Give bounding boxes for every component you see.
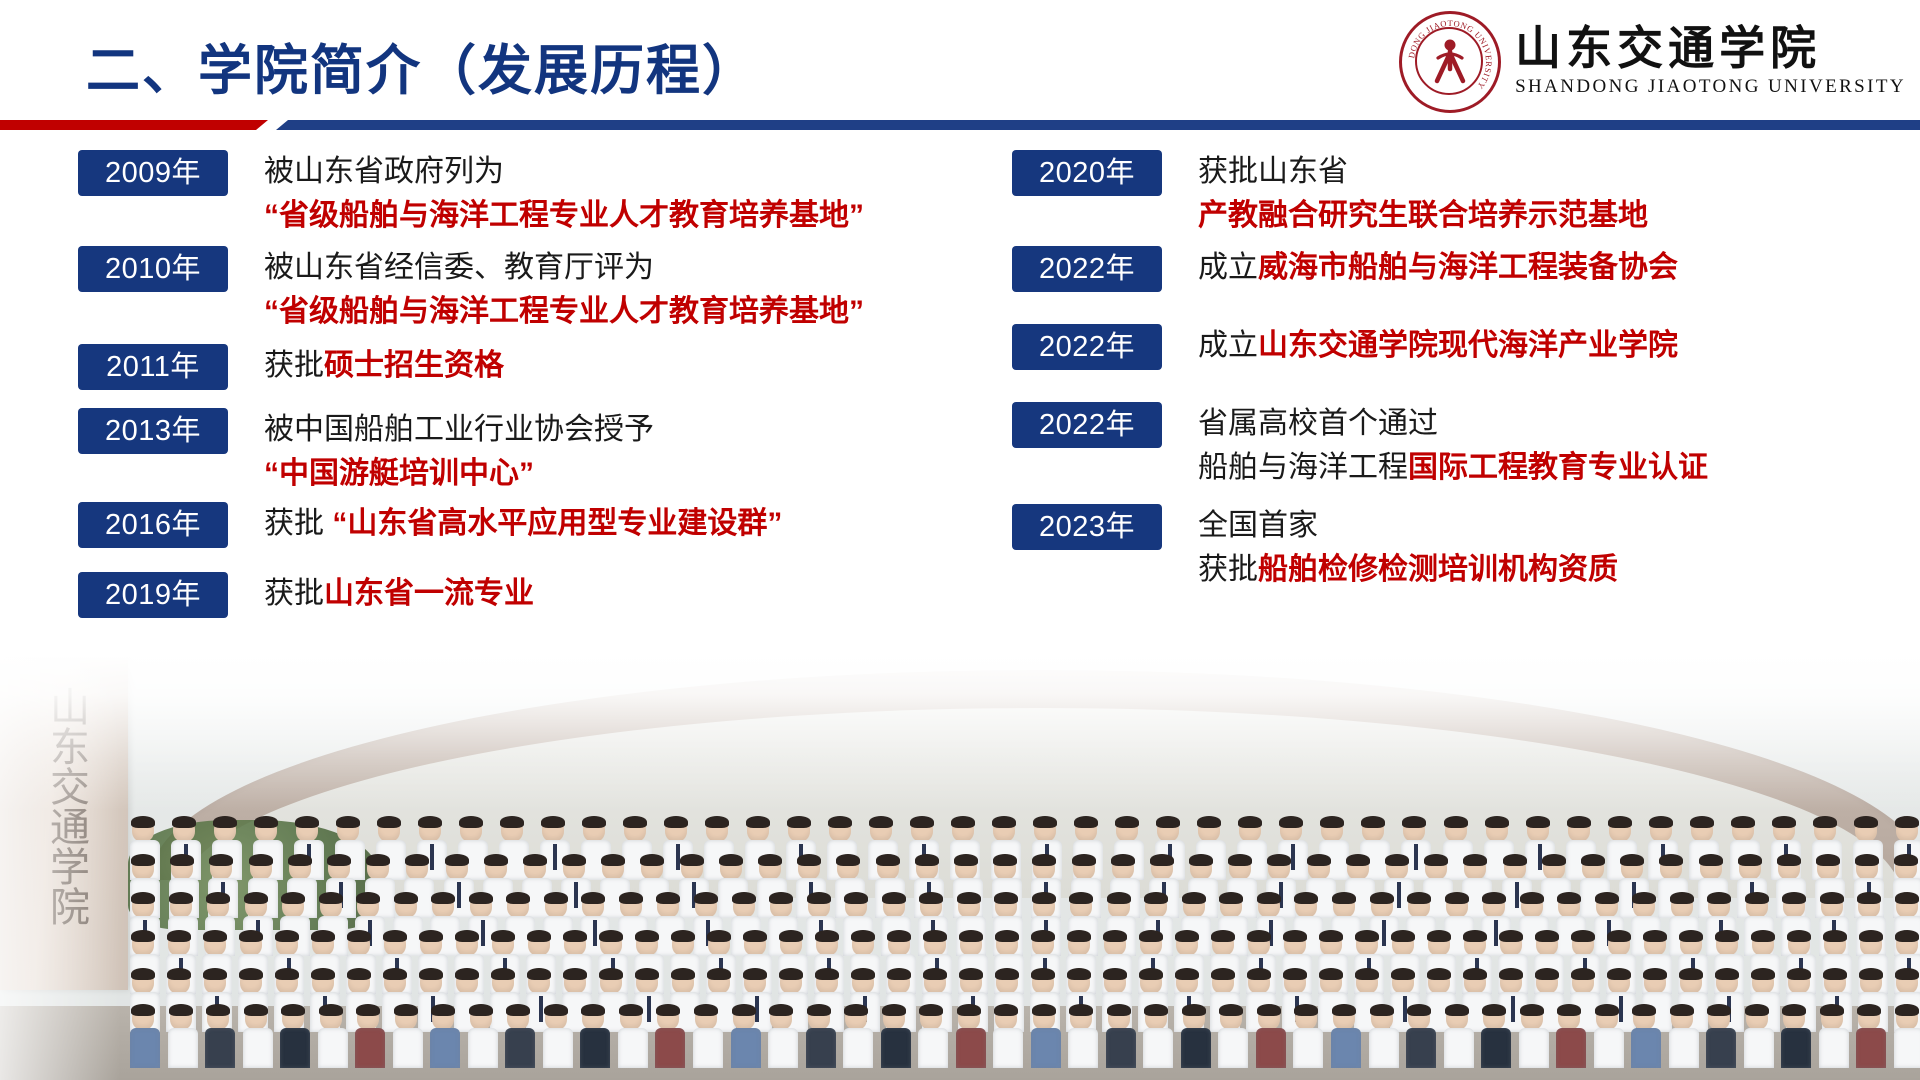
crowd-person (1406, 1006, 1432, 1068)
person-head (883, 1006, 905, 1030)
person-head (888, 932, 910, 956)
entry-plain-text: 获批 (264, 577, 324, 610)
person-head (1075, 818, 1097, 842)
person-head (132, 818, 154, 842)
person-body (1631, 1028, 1661, 1068)
crowd-person (130, 1006, 156, 1068)
entry-plain-text: 被山东省经信委、教育厅评为 (264, 251, 654, 284)
person-head (132, 932, 154, 956)
person-head (911, 818, 933, 842)
person-head (1446, 894, 1468, 918)
timeline-entry: 2022年省属高校首个通过船舶与海洋工程国际工程教育专业认证 (1012, 402, 1708, 490)
entry-highlight-text: “省级船舶与海洋工程专业人才教育培养基地” (264, 295, 864, 328)
university-logo: SHANDONG JIAOTONG UNIVERSITY 山东交通学院 SHAN… (1399, 8, 1906, 116)
person-head (524, 856, 546, 880)
person-head (245, 1006, 267, 1030)
person-head (1671, 894, 1693, 918)
timeline-entry-line: 成立山东交通学院现代海洋产业学院 (1198, 324, 1678, 368)
person-head (681, 856, 703, 880)
person-body (1406, 1028, 1436, 1068)
entry-plain-text: 获批 (264, 507, 332, 540)
timeline-entry-text: 获批山东省一流专业 (264, 572, 534, 616)
person-head (1700, 856, 1722, 880)
person-head (1034, 818, 1056, 842)
person-head (406, 856, 428, 880)
person-head (708, 970, 730, 994)
person-head (296, 818, 318, 842)
person-head (1248, 932, 1270, 956)
person-head (312, 970, 334, 994)
person-head (1464, 970, 1486, 994)
person-head (1739, 856, 1761, 880)
person-body (1481, 1028, 1511, 1068)
entry-highlight-text: “省级船舶与海洋工程专业人才教育培养基地” (264, 199, 864, 232)
timeline-entry-text: 成立山东交通学院现代海洋产业学院 (1198, 324, 1678, 368)
person-head (1284, 970, 1306, 994)
person-head (665, 818, 687, 842)
person-body (205, 1028, 235, 1068)
year-badge: 2016年 (78, 502, 228, 548)
person-head (1752, 970, 1774, 994)
person-head (1176, 970, 1198, 994)
person-body (731, 1028, 761, 1068)
person-head (1783, 894, 1805, 918)
crowd-person (1631, 1006, 1657, 1068)
person-head (1321, 818, 1343, 842)
person-head (816, 932, 838, 956)
person-head (1856, 856, 1878, 880)
person-head (657, 894, 679, 918)
person-head (1425, 856, 1447, 880)
person-body (1706, 1028, 1736, 1068)
person-head (214, 818, 236, 842)
university-seal-icon: SHANDONG JIAOTONG UNIVERSITY (1399, 11, 1501, 113)
year-badge: 2019年 (78, 572, 228, 618)
crowd-person (468, 1006, 494, 1068)
crowd-person (393, 1006, 419, 1068)
crowd-person (543, 1006, 569, 1068)
entry-plain-text: 全国首家 (1198, 509, 1318, 542)
person-head (1855, 818, 1877, 842)
person-head (1229, 856, 1251, 880)
person-head (1446, 1006, 1468, 1030)
person-head (798, 856, 820, 880)
timeline-entry-line: “中国游艇培训中心” (264, 452, 654, 496)
person-head (320, 894, 342, 918)
person-head (1280, 818, 1302, 842)
person-head (1033, 1006, 1055, 1030)
person-head (582, 894, 604, 918)
person-head (960, 932, 982, 956)
person-head (1896, 932, 1918, 956)
person-head (636, 932, 658, 956)
person-head (1543, 856, 1565, 880)
person-head (1650, 818, 1672, 842)
person-head (1183, 1006, 1205, 1030)
person-head (770, 894, 792, 918)
entry-highlight-text: 硕士招生资格 (324, 349, 504, 382)
crowd-person (1106, 1006, 1132, 1068)
person-head (602, 856, 624, 880)
timeline-entry-line: 获批船舶检修检测培训机构资质 (1198, 548, 1618, 592)
person-head (563, 856, 585, 880)
person-head (1151, 856, 1173, 880)
person-head (545, 894, 567, 918)
logo-chinese-name: 山东交通学院 (1515, 25, 1906, 73)
person-head (357, 1006, 379, 1030)
person-head (877, 856, 899, 880)
person-head (384, 970, 406, 994)
person-head (282, 894, 304, 918)
person-head (250, 856, 272, 880)
person-head (1858, 1006, 1880, 1030)
person-head (485, 856, 507, 880)
person-head (1212, 970, 1234, 994)
person-head (1258, 894, 1280, 918)
person-head (770, 1006, 792, 1030)
person-head (720, 856, 742, 880)
person-head (1356, 932, 1378, 956)
entry-plain-text: 被山东省政府列为 (264, 155, 504, 188)
person-body (1781, 1028, 1811, 1068)
person-head (173, 818, 195, 842)
person-head (207, 1006, 229, 1030)
person-head (1504, 856, 1526, 880)
crowd-person (881, 1006, 907, 1068)
timeline-entry-line: 获批山东省一流专业 (264, 572, 534, 616)
crowd-person (618, 1006, 644, 1068)
person-head (994, 856, 1016, 880)
person-head (492, 970, 514, 994)
divider-red-segment (0, 120, 268, 130)
person-head (446, 856, 468, 880)
person-body (243, 1028, 273, 1068)
person-body (693, 1028, 723, 1068)
person-body (806, 1028, 836, 1068)
person-head (1333, 894, 1355, 918)
entry-plain-text: 船舶与海洋工程 (1198, 451, 1408, 484)
person-body (1031, 1028, 1061, 1068)
person-head (695, 1006, 717, 1030)
person-head (170, 1006, 192, 1030)
person-head (245, 894, 267, 918)
crowd-person (768, 1006, 794, 1068)
person-head (600, 932, 622, 956)
person-head (1896, 1006, 1918, 1030)
crowd-row (130, 1006, 1920, 1068)
person-head (1320, 932, 1342, 956)
person-head (170, 894, 192, 918)
crowd-person (1331, 1006, 1357, 1068)
entry-plain-text: 获批 (264, 349, 324, 382)
person-head (845, 894, 867, 918)
timeline-entry-line: 全国首家 (1198, 504, 1618, 548)
person-head (1428, 970, 1450, 994)
person-head (733, 1006, 755, 1030)
person-head (636, 970, 658, 994)
year-badge: 2013年 (78, 408, 228, 454)
person-head (1716, 970, 1738, 994)
crowd-person (1293, 1006, 1319, 1068)
person-head (132, 1006, 154, 1030)
person-head (744, 932, 766, 956)
person-body (1143, 1028, 1173, 1068)
person-head (1895, 856, 1917, 880)
person-head (168, 970, 190, 994)
timeline-entry: 2020年获批山东省产教融合研究生联合培养示范基地 (1012, 150, 1648, 238)
timeline-entry: 2023年全国首家获批船舶检修检测培训机构资质 (1012, 504, 1618, 592)
timeline-entry-line: “省级船舶与海洋工程专业人才教育培养基地” (264, 194, 864, 238)
crowd-person (1594, 1006, 1620, 1068)
timeline-entry-text: 获批山东省产教融合研究生联合培养示范基地 (1198, 150, 1648, 238)
person-head (1500, 932, 1522, 956)
crowd-person (1181, 1006, 1207, 1068)
person-head (624, 818, 646, 842)
person-head (289, 856, 311, 880)
timeline-entry-line: 船舶与海洋工程国际工程教育专业认证 (1198, 446, 1708, 490)
person-head (545, 1006, 567, 1030)
person-body (130, 1028, 160, 1068)
person-head (1814, 818, 1836, 842)
person-head (1371, 894, 1393, 918)
person-head (1582, 856, 1604, 880)
person-head (1644, 932, 1666, 956)
timeline-entry-text: 全国首家获批船舶检修检测培训机构资质 (1198, 504, 1618, 592)
person-head (952, 818, 974, 842)
page-title: 二、学院简介（发展历程） (86, 26, 758, 105)
person-head (1362, 818, 1384, 842)
person-head (1104, 932, 1126, 956)
crowd-person (1706, 1006, 1732, 1068)
person-head (996, 932, 1018, 956)
person-head (528, 970, 550, 994)
person-head (1746, 1006, 1768, 1030)
entry-plain-text: 成立 (1198, 329, 1258, 362)
person-head (1347, 856, 1369, 880)
person-body (1068, 1028, 1098, 1068)
person-head (1483, 894, 1505, 918)
person-head (1568, 818, 1590, 842)
person-head (395, 894, 417, 918)
person-head (1032, 970, 1054, 994)
person-head (1821, 1006, 1843, 1030)
person-head (672, 970, 694, 994)
person-head (641, 856, 663, 880)
person-head (507, 1006, 529, 1030)
person-head (960, 970, 982, 994)
person-body (618, 1028, 648, 1068)
timeline-entry-line: 省属高校首个通过 (1198, 402, 1708, 446)
person-head (420, 970, 442, 994)
person-head (958, 894, 980, 918)
person-head (367, 856, 389, 880)
person-head (1445, 818, 1467, 842)
person-head (920, 894, 942, 918)
person-head (432, 1006, 454, 1030)
person-head (378, 818, 400, 842)
year-badge: 2009年 (78, 150, 228, 196)
person-head (312, 932, 334, 956)
person-body (468, 1028, 498, 1068)
entry-highlight-text: 产教融合研究生联合培养示范基地 (1198, 199, 1648, 232)
entry-highlight-text: “中国游艇培训中心” (264, 457, 534, 490)
person-head (1732, 818, 1754, 842)
crowd-person (1894, 1006, 1920, 1068)
person-head (1621, 856, 1643, 880)
person-head (1608, 932, 1630, 956)
person-head (320, 1006, 342, 1030)
person-body (1819, 1028, 1849, 1068)
timeline-entry-line: 获批山东省 (1198, 150, 1648, 194)
timeline-entry-line: 被中国船舶工业行业协会授予 (264, 408, 654, 452)
person-head (432, 894, 454, 918)
person-head (1308, 856, 1330, 880)
crowd-person (806, 1006, 832, 1068)
person-head (1572, 932, 1594, 956)
person-head (780, 970, 802, 994)
timeline-entry-line: “省级船舶与海洋工程专业人才教育培养基地” (264, 290, 864, 334)
person-head (1070, 1006, 1092, 1030)
person-head (132, 894, 154, 918)
slide-header: 二、学院简介（发展历程） SHANDONG JIAOTONG UNIVERSIT… (0, 0, 1920, 132)
person-head (1783, 1006, 1805, 1030)
crowd-person (430, 1006, 456, 1068)
person-body (1594, 1028, 1624, 1068)
person-head (1108, 1006, 1130, 1030)
entry-highlight-text: 国际工程教育专业认证 (1408, 451, 1708, 484)
person-head (1268, 856, 1290, 880)
person-head (204, 970, 226, 994)
person-head (1183, 894, 1205, 918)
person-head (1788, 970, 1810, 994)
person-head (507, 894, 529, 918)
person-body (1369, 1028, 1399, 1068)
year-badge: 2023年 (1012, 504, 1162, 550)
entry-plain-text: 获批 (1198, 553, 1258, 586)
person-head (1817, 856, 1839, 880)
person-head (837, 856, 859, 880)
person-head (1896, 970, 1918, 994)
person-head (276, 932, 298, 956)
person-head (1671, 1006, 1693, 1030)
person-head (1033, 894, 1055, 918)
crowd-person (1856, 1006, 1882, 1068)
person-head (706, 818, 728, 842)
person-head (1691, 818, 1713, 842)
person-head (1392, 970, 1414, 994)
person-head (528, 932, 550, 956)
year-badge: 2020年 (1012, 150, 1162, 196)
person-head (328, 856, 350, 880)
timeline-entry: 2009年被山东省政府列为“省级船舶与海洋工程专业人才教育培养基地” (78, 150, 864, 238)
person-head (1633, 894, 1655, 918)
person-head (1527, 818, 1549, 842)
person-head (1608, 970, 1630, 994)
person-body (1293, 1028, 1323, 1068)
crowd-person (1256, 1006, 1282, 1068)
person-body (956, 1028, 986, 1068)
person-body (1256, 1028, 1286, 1068)
person-head (1680, 970, 1702, 994)
person-head (1788, 932, 1810, 956)
person-head (1680, 932, 1702, 956)
timeline-entry-line: 获批硕士招生资格 (264, 344, 504, 388)
person-head (1140, 970, 1162, 994)
person-head (1644, 970, 1666, 994)
person-head (1070, 894, 1092, 918)
person-head (1068, 970, 1090, 994)
crowd-person (355, 1006, 381, 1068)
person-body (918, 1028, 948, 1068)
person-body (768, 1028, 798, 1068)
crowd-person (918, 1006, 944, 1068)
crowd-person (655, 1006, 681, 1068)
person-head (1824, 970, 1846, 994)
person-head (955, 856, 977, 880)
year-badge: 2022年 (1012, 324, 1162, 370)
person-head (958, 1006, 980, 1030)
person-head (920, 1006, 942, 1030)
logo-wordmark: 山东交通学院 SHANDONG JIAOTONG UNIVERSITY (1515, 25, 1906, 98)
entry-plain-text: 被中国船舶工业行业协会授予 (264, 413, 654, 446)
person-head (460, 818, 482, 842)
person-head (1320, 970, 1342, 994)
crowd-person (1031, 1006, 1057, 1068)
timeline-entry-text: 获批 “山东省高水平应用型专业建设群” (264, 502, 782, 546)
timeline-entry-text: 被中国船舶工业行业协会授予“中国游艇培训中心” (264, 408, 654, 496)
person-head (996, 970, 1018, 994)
person-head (708, 932, 730, 956)
person-head (1708, 894, 1730, 918)
person-body (580, 1028, 610, 1068)
person-head (1140, 932, 1162, 956)
person-head (1521, 1006, 1543, 1030)
person-head (1486, 818, 1508, 842)
person-head (620, 894, 642, 918)
person-head (780, 932, 802, 956)
crowd-person (1519, 1006, 1545, 1068)
person-head (255, 818, 277, 842)
person-head (564, 970, 586, 994)
crowd-person (1669, 1006, 1695, 1068)
person-head (542, 818, 564, 842)
person-head (240, 932, 262, 956)
person-head (1708, 1006, 1730, 1030)
timeline-entry-text: 被山东省经信委、教育厅评为“省级船舶与海洋工程专业人才教育培养基地” (264, 246, 864, 334)
person-head (1660, 856, 1682, 880)
crowd-person (1369, 1006, 1395, 1068)
person-head (456, 932, 478, 956)
person-head (1778, 856, 1800, 880)
person-head (829, 818, 851, 842)
person-head (1284, 932, 1306, 956)
timeline-entry-line: 获批 “山东省高水平应用型专业建设群” (264, 502, 782, 546)
person-body (1331, 1028, 1361, 1068)
person-head (1896, 818, 1918, 842)
person-body (1894, 1028, 1920, 1068)
person-head (1596, 1006, 1618, 1030)
person-body (280, 1028, 310, 1068)
crowd-person (1819, 1006, 1845, 1068)
person-head (845, 1006, 867, 1030)
person-head (1521, 894, 1543, 918)
person-head (916, 856, 938, 880)
person-head (733, 894, 755, 918)
person-head (132, 856, 154, 880)
person-head (1824, 932, 1846, 956)
person-head (168, 932, 190, 956)
person-head (1483, 1006, 1505, 1030)
